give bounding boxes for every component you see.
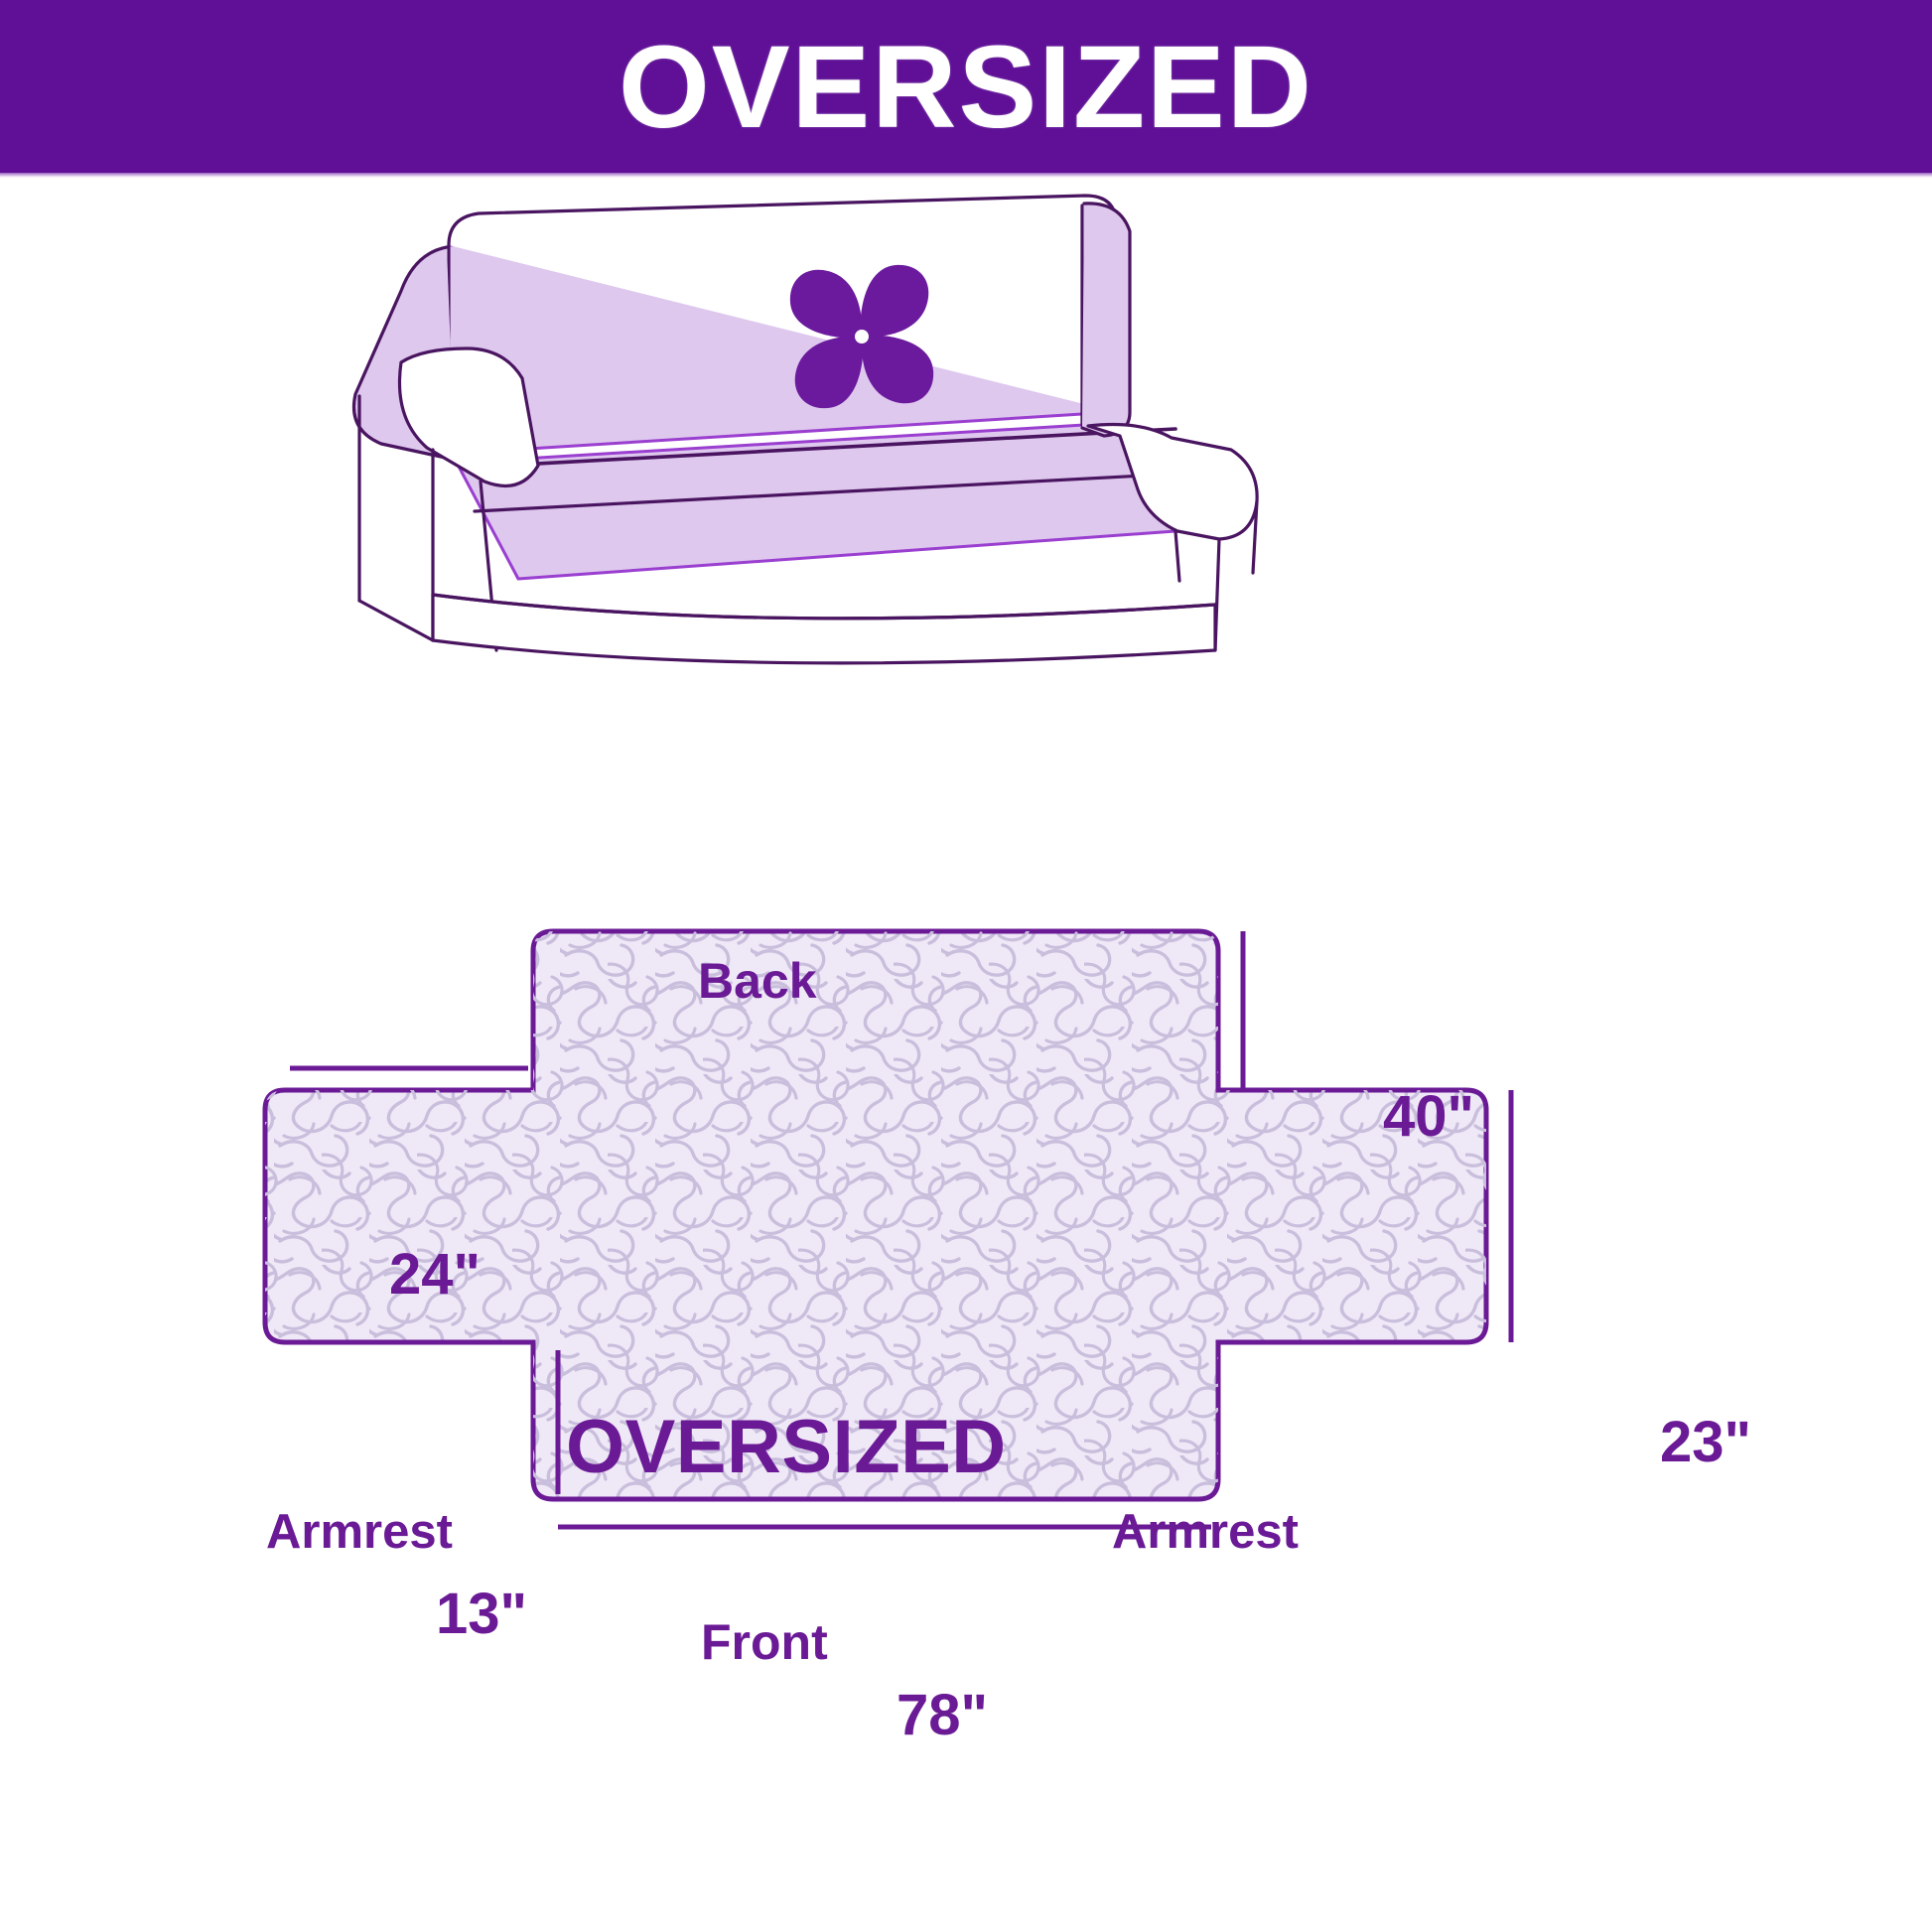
label-oversized-center: OVERSIZED [566, 1410, 1007, 1485]
logo-center-dot [855, 330, 869, 344]
page-title: OVERSIZED [619, 29, 1313, 146]
label-armrest-right: Armrest [1112, 1508, 1299, 1557]
product-size-chart: OVERSIZED [0, 0, 1932, 1932]
sofa-left-bottom-edge [359, 601, 433, 640]
sofa-right-arm-inner-edge [1175, 531, 1179, 581]
dimension-label-front-drop: 13" [436, 1586, 527, 1643]
sofa-illustration [298, 184, 1291, 680]
label-front: Front [701, 1617, 828, 1667]
dimension-label-total-width: 78" [897, 1687, 988, 1744]
sofa-left-arm-roll [399, 348, 538, 485]
label-armrest-left: Armrest [266, 1508, 453, 1557]
header-banner: OVERSIZED [0, 0, 1932, 175]
banner-bottom-edge [0, 173, 1932, 178]
sofa-skirt [433, 595, 1215, 663]
dimension-label-armrest-height: 23" [1660, 1414, 1751, 1471]
sofa-right-arm-back [1082, 204, 1130, 436]
label-back: Back [698, 956, 817, 1006]
dimension-label-back-height: 40" [1383, 1088, 1474, 1146]
dimension-label-back-offset: 24" [389, 1246, 481, 1304]
